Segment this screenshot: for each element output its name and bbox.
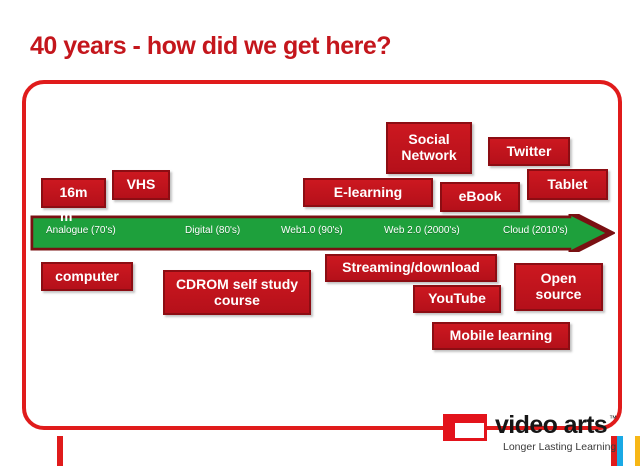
logo-wordmark: video arts <box>495 411 607 440</box>
box-streaming-download[interactable]: Streaming/download <box>325 254 497 282</box>
box-twitter[interactable]: Twitter <box>488 137 570 166</box>
video-arts-logo: video arts ™ Longer Lasting Learning <box>443 410 623 456</box>
timeline-label-web10: Web1.0 (90's) <box>281 225 343 236</box>
box-mobile-learning[interactable]: Mobile learning <box>432 322 570 350</box>
box-vhs[interactable]: VHS <box>112 170 170 200</box>
box-label: VHS <box>127 177 156 193</box>
box-label: CDROM self study course <box>169 277 305 308</box>
box-cdrom-self-study[interactable]: CDROM self study course <box>163 270 311 315</box>
box-label: Twitter <box>507 144 552 160</box>
box-label: YouTube <box>428 291 486 307</box>
main-red-frame <box>22 80 622 430</box>
timeline-label-cloud: Cloud (2010's) <box>503 225 568 236</box>
logo-trademark-icon: ™ <box>609 414 617 423</box>
box-e-learning[interactable]: E-learning <box>303 178 433 207</box>
box-tablet[interactable]: Tablet <box>527 169 608 200</box>
box-label: Tablet <box>547 177 587 193</box>
box-16m[interactable]: 16m <box>41 178 106 208</box>
timeline-label-web20: Web 2.0 (2000's) <box>384 225 460 236</box>
page-title: 40 years - how did we get here? <box>30 32 391 61</box>
logo-mark-icon <box>443 414 487 441</box>
box-label: 16m <box>59 185 87 201</box>
box-youtube[interactable]: YouTube <box>413 285 501 313</box>
box-label: eBook <box>459 189 502 205</box>
box-label: Social Network <box>392 132 466 163</box>
logo-tagline: Longer Lasting Learning <box>503 441 616 453</box>
box-label: computer <box>55 269 119 285</box>
timeline-arrow: Analogue (70's) Digital (80's) Web1.0 (9… <box>30 214 615 252</box>
box-ebook[interactable]: eBook <box>440 182 520 212</box>
slide-canvas: 40 years - how did we get here? Analogue… <box>0 0 640 466</box>
box-label: Streaming/download <box>342 260 480 276</box>
box-label: Mobile learning <box>450 328 553 344</box>
box-label: E-learning <box>334 185 402 201</box>
logo-mark-inner-shape <box>454 422 485 439</box>
timeline-label-analogue: Analogue (70's) <box>46 225 116 236</box>
box-label: Open source <box>520 271 597 302</box>
box-computer[interactable]: computer <box>41 262 133 291</box>
stray-m-glyph: m <box>60 209 72 223</box>
box-open-source[interactable]: Open source <box>514 263 603 311</box>
box-social-network[interactable]: Social Network <box>386 122 472 174</box>
timeline-label-digital: Digital (80's) <box>185 225 240 236</box>
